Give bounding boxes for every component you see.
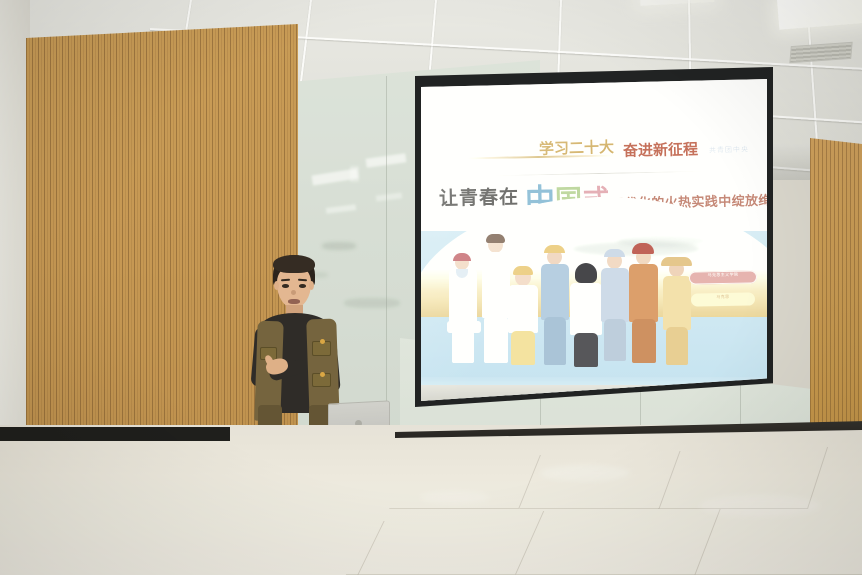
slide-figure-nurse	[447, 255, 481, 363]
slide-badge-yellow: 马克思	[691, 292, 755, 306]
projection-screen-frame: 学习二十大 奋进新征程 共青团中央 让青春在 中 国 式 现代化的火热实践中绽放…	[415, 67, 773, 407]
slide-figure-firefighter	[627, 243, 661, 363]
lecture-hall-photo: 学习二十大 奋进新征程 共青团中央 让青春在 中 国 式 现代化的火热实践中绽放…	[0, 0, 862, 575]
vest-button	[320, 372, 325, 377]
projection-screen-surface: 学习二十大 奋进新征程 共青团中央 让青春在 中 国 式 现代化的火热实践中绽放…	[421, 79, 767, 401]
slide-header-left: 学习二十大	[539, 136, 615, 159]
left-white-wall	[0, 0, 30, 430]
slide-header-right: 奋进新征程	[623, 138, 699, 161]
vest-button	[320, 339, 325, 344]
slide-figure-student	[505, 269, 541, 365]
presentation-slide: 学习二十大 奋进新征程 共青团中央 让青春在 中 国 式 现代化的火热实践中绽放…	[421, 79, 767, 401]
baseboard	[0, 427, 230, 441]
slide-corner-mark: 共青团中央	[709, 145, 749, 156]
slide-badge-red: 马克思主义学院	[689, 270, 757, 284]
slide-title-part1: 让青春在	[439, 182, 520, 211]
slide-figure-farmer	[659, 255, 695, 365]
floor	[0, 425, 862, 575]
